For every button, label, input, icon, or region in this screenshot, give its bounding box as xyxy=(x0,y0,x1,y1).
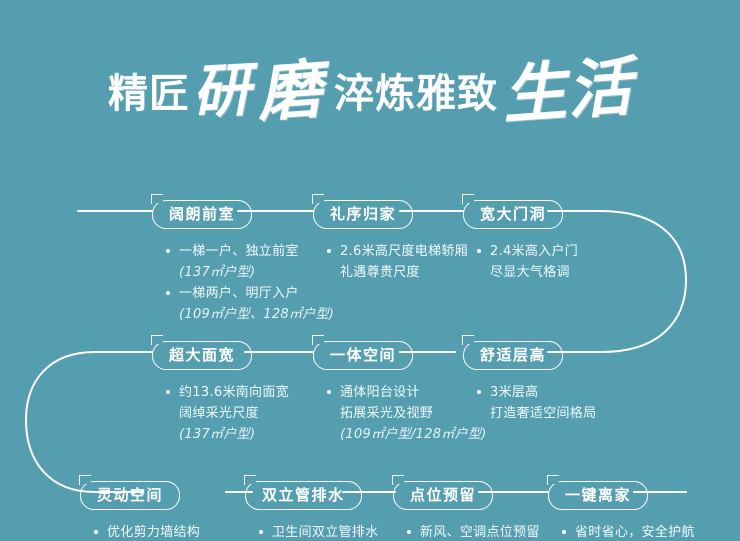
bullet-text: (109㎡户型、128㎡户型) xyxy=(179,307,334,322)
bullet-line: (137㎡户型) xyxy=(166,262,334,283)
card-title-chip[interactable]: 舒适层高 xyxy=(463,341,563,370)
bullet-line: 一梯一户、独立前室 xyxy=(166,241,334,262)
bullet-text: 一梯一户、独立前室 xyxy=(179,244,299,259)
bullet-dot-icon xyxy=(94,530,98,534)
bullet-text: (109㎡户型/128㎡户型) xyxy=(340,427,487,442)
poster-canvas: 精匠研磨淬炼雅致生活 阔朗前室 xyxy=(0,0,740,541)
card-title-text: 阔朗前室 xyxy=(169,205,235,223)
bullet-dot-icon xyxy=(477,390,481,394)
bullet-line: 3米层高 xyxy=(477,382,596,403)
card-title-chip[interactable]: 双立管排水 xyxy=(245,481,362,510)
card-chaodamiankuan[interactable]: 超大面宽 约13.6米南向面宽 阔绰采光尺度 (137㎡户型) xyxy=(152,341,289,445)
headline-part-1: 精匠 xyxy=(108,61,190,119)
bullet-line: 约13.6米南向面宽 xyxy=(166,382,289,403)
card-lixuguijia[interactable]: 礼序归家 2.6米高尺度电梯轿厢 礼遇尊贵尺度 xyxy=(313,200,468,283)
card-title-text: 宽大门洞 xyxy=(480,205,546,223)
card-yitikongjian[interactable]: 一体空间 通体阳台设计 拓展采光及视野 (109㎡户型/128㎡户型) xyxy=(313,341,487,445)
bullet-text: 2.6米高尺度电梯轿厢 xyxy=(340,244,468,259)
bullet-text: 2.4米高入户门 xyxy=(490,244,578,259)
bullet-line: 一梯两户、明厅入户 xyxy=(166,283,334,304)
headline-part-3: 磨 xyxy=(254,38,325,134)
card-title-chip[interactable]: 灵动空间 xyxy=(80,481,180,510)
bullet-text: 礼遇尊贵尺度 xyxy=(340,265,420,280)
bullet-line: 打造奢适空间格局 xyxy=(477,403,596,424)
card-title-chip[interactable]: 阔朗前室 xyxy=(152,200,252,229)
card-body: 2.4米高入户门 尽显大气格调 xyxy=(463,241,578,283)
connector-left-uturn xyxy=(26,352,152,492)
card-title-chip[interactable]: 一键离家 xyxy=(548,481,648,510)
bullet-line: (137㎡户型) xyxy=(166,424,289,445)
card-title-chip[interactable]: 宽大门洞 xyxy=(463,200,563,229)
bullet-text: (137㎡户型) xyxy=(179,427,255,442)
bullet-text: 约13.6米南向面宽 xyxy=(179,385,289,400)
card-title-chip[interactable]: 一体空间 xyxy=(313,341,413,370)
card-title-text: 超大面宽 xyxy=(169,346,235,364)
bullet-line: 新风、空调点位预留 xyxy=(407,522,540,541)
bullet-line: (109㎡户型/128㎡户型) xyxy=(327,424,487,445)
bullet-dot-icon xyxy=(327,390,331,394)
card-yijianlijia[interactable]: 一键离家 省时省心，安全护航 xyxy=(548,481,695,541)
bullet-dot-icon xyxy=(407,530,411,534)
bullet-line: 2.4米高入户门 xyxy=(477,241,578,262)
card-title-text: 灵动空间 xyxy=(97,486,163,504)
card-body: 省时省心，安全护航 xyxy=(548,522,695,541)
card-title-text: 一体空间 xyxy=(330,346,396,364)
bullet-line: 卫生间双立管排水 xyxy=(259,522,378,541)
bullet-text: 通体阳台设计 xyxy=(340,385,420,400)
bullet-text: 一梯两户、明厅入户 xyxy=(179,286,299,301)
card-title-chip[interactable]: 礼序归家 xyxy=(313,200,413,229)
card-body: 约13.6米南向面宽 阔绰采光尺度 (137㎡户型) xyxy=(152,382,289,445)
card-title-text: 点位预留 xyxy=(410,486,476,504)
bullet-dot-icon xyxy=(166,291,170,295)
card-title-text: 礼序归家 xyxy=(330,205,396,223)
headline-part-4: 淬炼雅致 xyxy=(334,61,498,119)
card-body: 优化剪力墙结构 实现空间多变 xyxy=(80,522,200,541)
bullet-text: 打造奢适空间格局 xyxy=(490,406,596,421)
card-body: 3米层高 打造奢适空间格局 xyxy=(463,382,596,424)
card-title-text: 一键离家 xyxy=(565,486,631,504)
bullet-dot-icon xyxy=(327,249,331,253)
card-body: 卫生间双立管排水 有效防止异味 xyxy=(245,522,378,541)
card-body: 通体阳台设计 拓展采光及视野 (109㎡户型/128㎡户型) xyxy=(313,382,487,445)
headline-part-2: 研 xyxy=(190,43,253,130)
bullet-dot-icon xyxy=(477,249,481,253)
bullet-text: 优化剪力墙结构 xyxy=(107,525,200,540)
card-lingdongkongjian[interactable]: 灵动空间 优化剪力墙结构 实现空间多变 xyxy=(80,481,200,541)
card-dianweiyuliu[interactable]: 点位预留 新风、空调点位预留 便于后期装修 xyxy=(393,481,540,541)
bullet-line: 省时省心，安全护航 xyxy=(562,522,695,541)
bullet-text: 3米层高 xyxy=(490,385,538,400)
bullet-text: 拓展采光及视野 xyxy=(340,406,433,421)
card-body: 新风、空调点位预留 便于后期装修 xyxy=(393,522,540,541)
bullet-dot-icon xyxy=(259,530,263,534)
bullet-dot-icon xyxy=(166,249,170,253)
card-body: 2.6米高尺度电梯轿厢 礼遇尊贵尺度 xyxy=(313,241,468,283)
bullet-text: 新风、空调点位预留 xyxy=(420,525,540,540)
headline-part-5: 生活 xyxy=(499,36,635,137)
bullet-line: 礼遇尊贵尺度 xyxy=(327,262,468,283)
page-title: 精匠研磨淬炼雅致生活 xyxy=(0,34,740,126)
card-title-chip[interactable]: 点位预留 xyxy=(393,481,493,510)
bullet-line: 优化剪力墙结构 xyxy=(94,522,200,541)
bullet-line: 尽显大气格调 xyxy=(477,262,578,283)
card-title-text: 双立管排水 xyxy=(262,486,345,504)
bullet-dot-icon xyxy=(166,390,170,394)
bullet-line: 2.6米高尺度电梯轿厢 xyxy=(327,241,468,262)
bullet-text: 阔绰采光尺度 xyxy=(179,406,259,421)
card-title-chip[interactable]: 超大面宽 xyxy=(152,341,252,370)
card-title-text: 舒适层高 xyxy=(480,346,546,364)
bullet-dot-icon xyxy=(562,530,566,534)
card-shushicenggao[interactable]: 舒适层高 3米层高 打造奢适空间格局 xyxy=(463,341,596,424)
bullet-text: 卫生间双立管排水 xyxy=(272,525,378,540)
card-body: 一梯一户、独立前室 (137㎡户型) 一梯两户、明厅入户 (109㎡户型、128… xyxy=(152,241,334,325)
card-kuandamendong[interactable]: 宽大门洞 2.4米高入户门 尽显大气格调 xyxy=(463,200,578,283)
bullet-text: 尽显大气格调 xyxy=(490,265,570,280)
bullet-text: (137㎡户型) xyxy=(179,265,255,280)
bullet-line: (109㎡户型、128㎡户型) xyxy=(166,304,334,325)
card-shuanglgpaishui[interactable]: 双立管排水 卫生间双立管排水 有效防止异味 xyxy=(245,481,378,541)
bullet-text: 省时省心，安全护航 xyxy=(575,525,695,540)
card-kuolangqianshi[interactable]: 阔朗前室 一梯一户、独立前室 (137㎡户型) 一梯两户、明厅入户 (109㎡户… xyxy=(152,200,334,325)
bullet-line: 阔绰采光尺度 xyxy=(166,403,289,424)
